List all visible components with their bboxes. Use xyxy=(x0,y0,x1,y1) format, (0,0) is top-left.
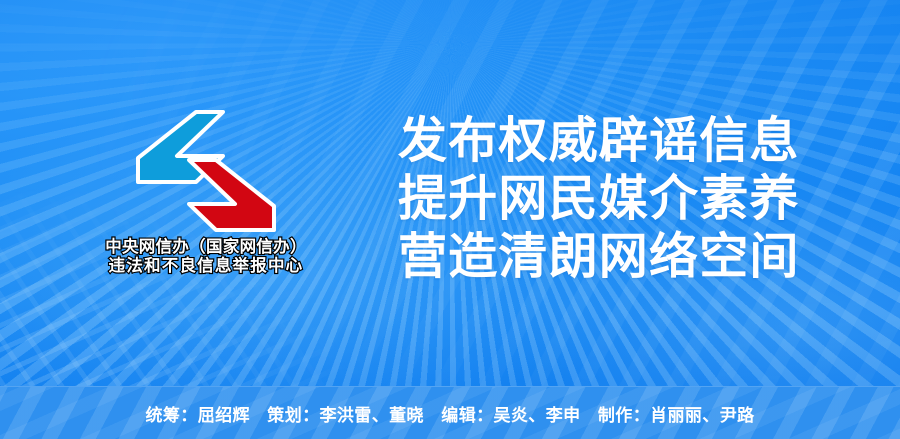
logo-caption-line-2: 违法和不良信息举报中心 xyxy=(78,257,334,276)
headline-block: 发布权威辟谣信息 提升网民媒介素养 营造清朗网络空间 xyxy=(398,112,808,286)
headline-line-2: 提升网民媒介素养 xyxy=(398,170,808,228)
poster-canvas: 中央网信办（国家网信办） 违法和不良信息举报中心 发布权威辟谣信息 提升网民媒介… xyxy=(0,0,900,439)
headline-line-3: 营造清朗网络空间 xyxy=(398,228,808,286)
logo-block: 中央网信办（国家网信办） 违法和不良信息举报中心 xyxy=(78,110,334,276)
credits-text: 统筹：屈绍辉 策划：李洪雷、董晓 编辑：吴炎、李申 制作：肖丽丽、尹路 xyxy=(146,401,755,426)
logo-caption: 中央网信办（国家网信办） 违法和不良信息举报中心 xyxy=(78,238,334,276)
logo-caption-line-1: 中央网信办（国家网信办） xyxy=(78,238,334,257)
credits-bar: 统筹：屈绍辉 策划：李洪雷、董晓 编辑：吴炎、李申 制作：肖丽丽、尹路 xyxy=(0,386,900,439)
headline-line-1: 发布权威辟谣信息 xyxy=(398,112,808,170)
cac-report-center-logo-icon xyxy=(136,110,276,232)
